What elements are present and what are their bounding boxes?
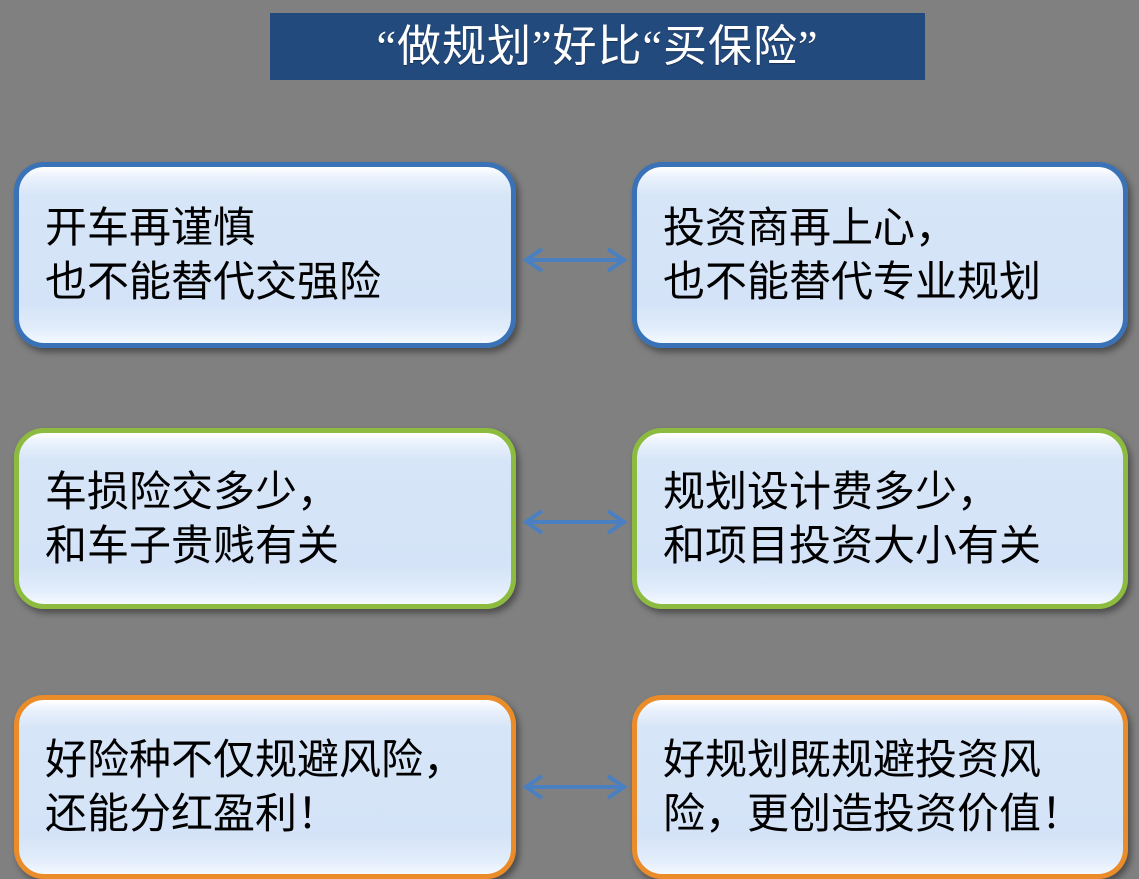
callout-text: 开车再谨慎 也不能替代交强险 [45, 201, 381, 309]
callout-box-row3-left[interactable]: 好险种不仅规避风险， 还能分红盈利！ [14, 695, 516, 879]
callout-box-row2-right[interactable]: 规划设计费多少， 和项目投资大小有关 [632, 428, 1128, 609]
slide-canvas: “做规划”好比“买保险” 开车再谨慎 也不能替代交强险 投资商再上心， 也不能替… [0, 0, 1139, 879]
slide-title-banner: “做规划”好比“买保险” [270, 13, 925, 80]
page-title: “做规划”好比“买保险” [376, 25, 818, 69]
callout-box-row3-right[interactable]: 好规划既规避投资风 险，更创造投资价值！ [632, 695, 1128, 879]
callout-text: 规划设计费多少， 和项目投资大小有关 [663, 465, 1041, 573]
callout-text: 好规划既规避投资风 险，更创造投资价值！ [663, 733, 1083, 841]
double-arrow-row1-icon [516, 243, 634, 277]
callout-box-row1-right[interactable]: 投资商再上心， 也不能替代专业规划 [632, 162, 1128, 348]
callout-text: 投资商再上心， 也不能替代专业规划 [663, 201, 1041, 309]
callout-text: 车损险交多少， 和车子贵贱有关 [45, 465, 339, 573]
callout-box-row1-left[interactable]: 开车再谨慎 也不能替代交强险 [14, 162, 516, 348]
callout-box-row2-left[interactable]: 车损险交多少， 和车子贵贱有关 [14, 428, 516, 609]
double-arrow-row3-icon [516, 770, 634, 804]
double-arrow-row2-icon [516, 505, 634, 539]
callout-text: 好险种不仅规避风险， 还能分红盈利！ [45, 733, 465, 841]
